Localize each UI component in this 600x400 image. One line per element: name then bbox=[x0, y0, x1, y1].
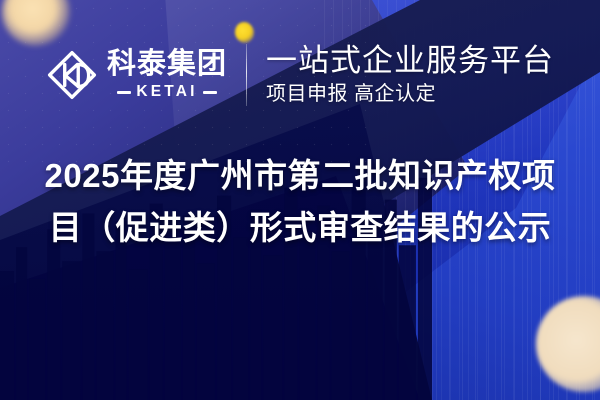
header-divider bbox=[246, 44, 247, 106]
page-title-line-1: 2025年度广州市第二批知识产权项 bbox=[24, 150, 576, 202]
brand-name-en-row: KETAI bbox=[117, 84, 216, 100]
ketai-diamond-monogram-icon bbox=[46, 49, 98, 101]
slogan-sub: 项目申报 高企认定 bbox=[266, 83, 554, 105]
rule-right-icon bbox=[203, 91, 217, 94]
brand-header: 科泰集团 KETAI 一站式企业服务平台 项目申报 高企认定 bbox=[0, 44, 600, 106]
brand-name-cn: 科泰集团 bbox=[107, 50, 227, 79]
slogan-main: 一站式企业服务平台 bbox=[266, 45, 554, 78]
rule-left-icon bbox=[117, 91, 131, 94]
brand-slogan: 一站式企业服务平台 项目申报 高企认定 bbox=[266, 45, 554, 106]
page-title: 2025年度广州市第二批知识产权项 目（促进类）形式审查结果的公示 bbox=[0, 150, 600, 254]
brand-logo: 科泰集团 KETAI bbox=[46, 49, 227, 101]
brand-wordmark: 科泰集团 KETAI bbox=[107, 50, 227, 100]
announcement-banner: 科泰集团 KETAI 一站式企业服务平台 项目申报 高企认定 2025年度广州市… bbox=[0, 0, 600, 400]
page-title-line-2: 目（促进类）形式审查结果的公示 bbox=[24, 202, 576, 254]
brand-name-en: KETAI bbox=[136, 84, 197, 100]
